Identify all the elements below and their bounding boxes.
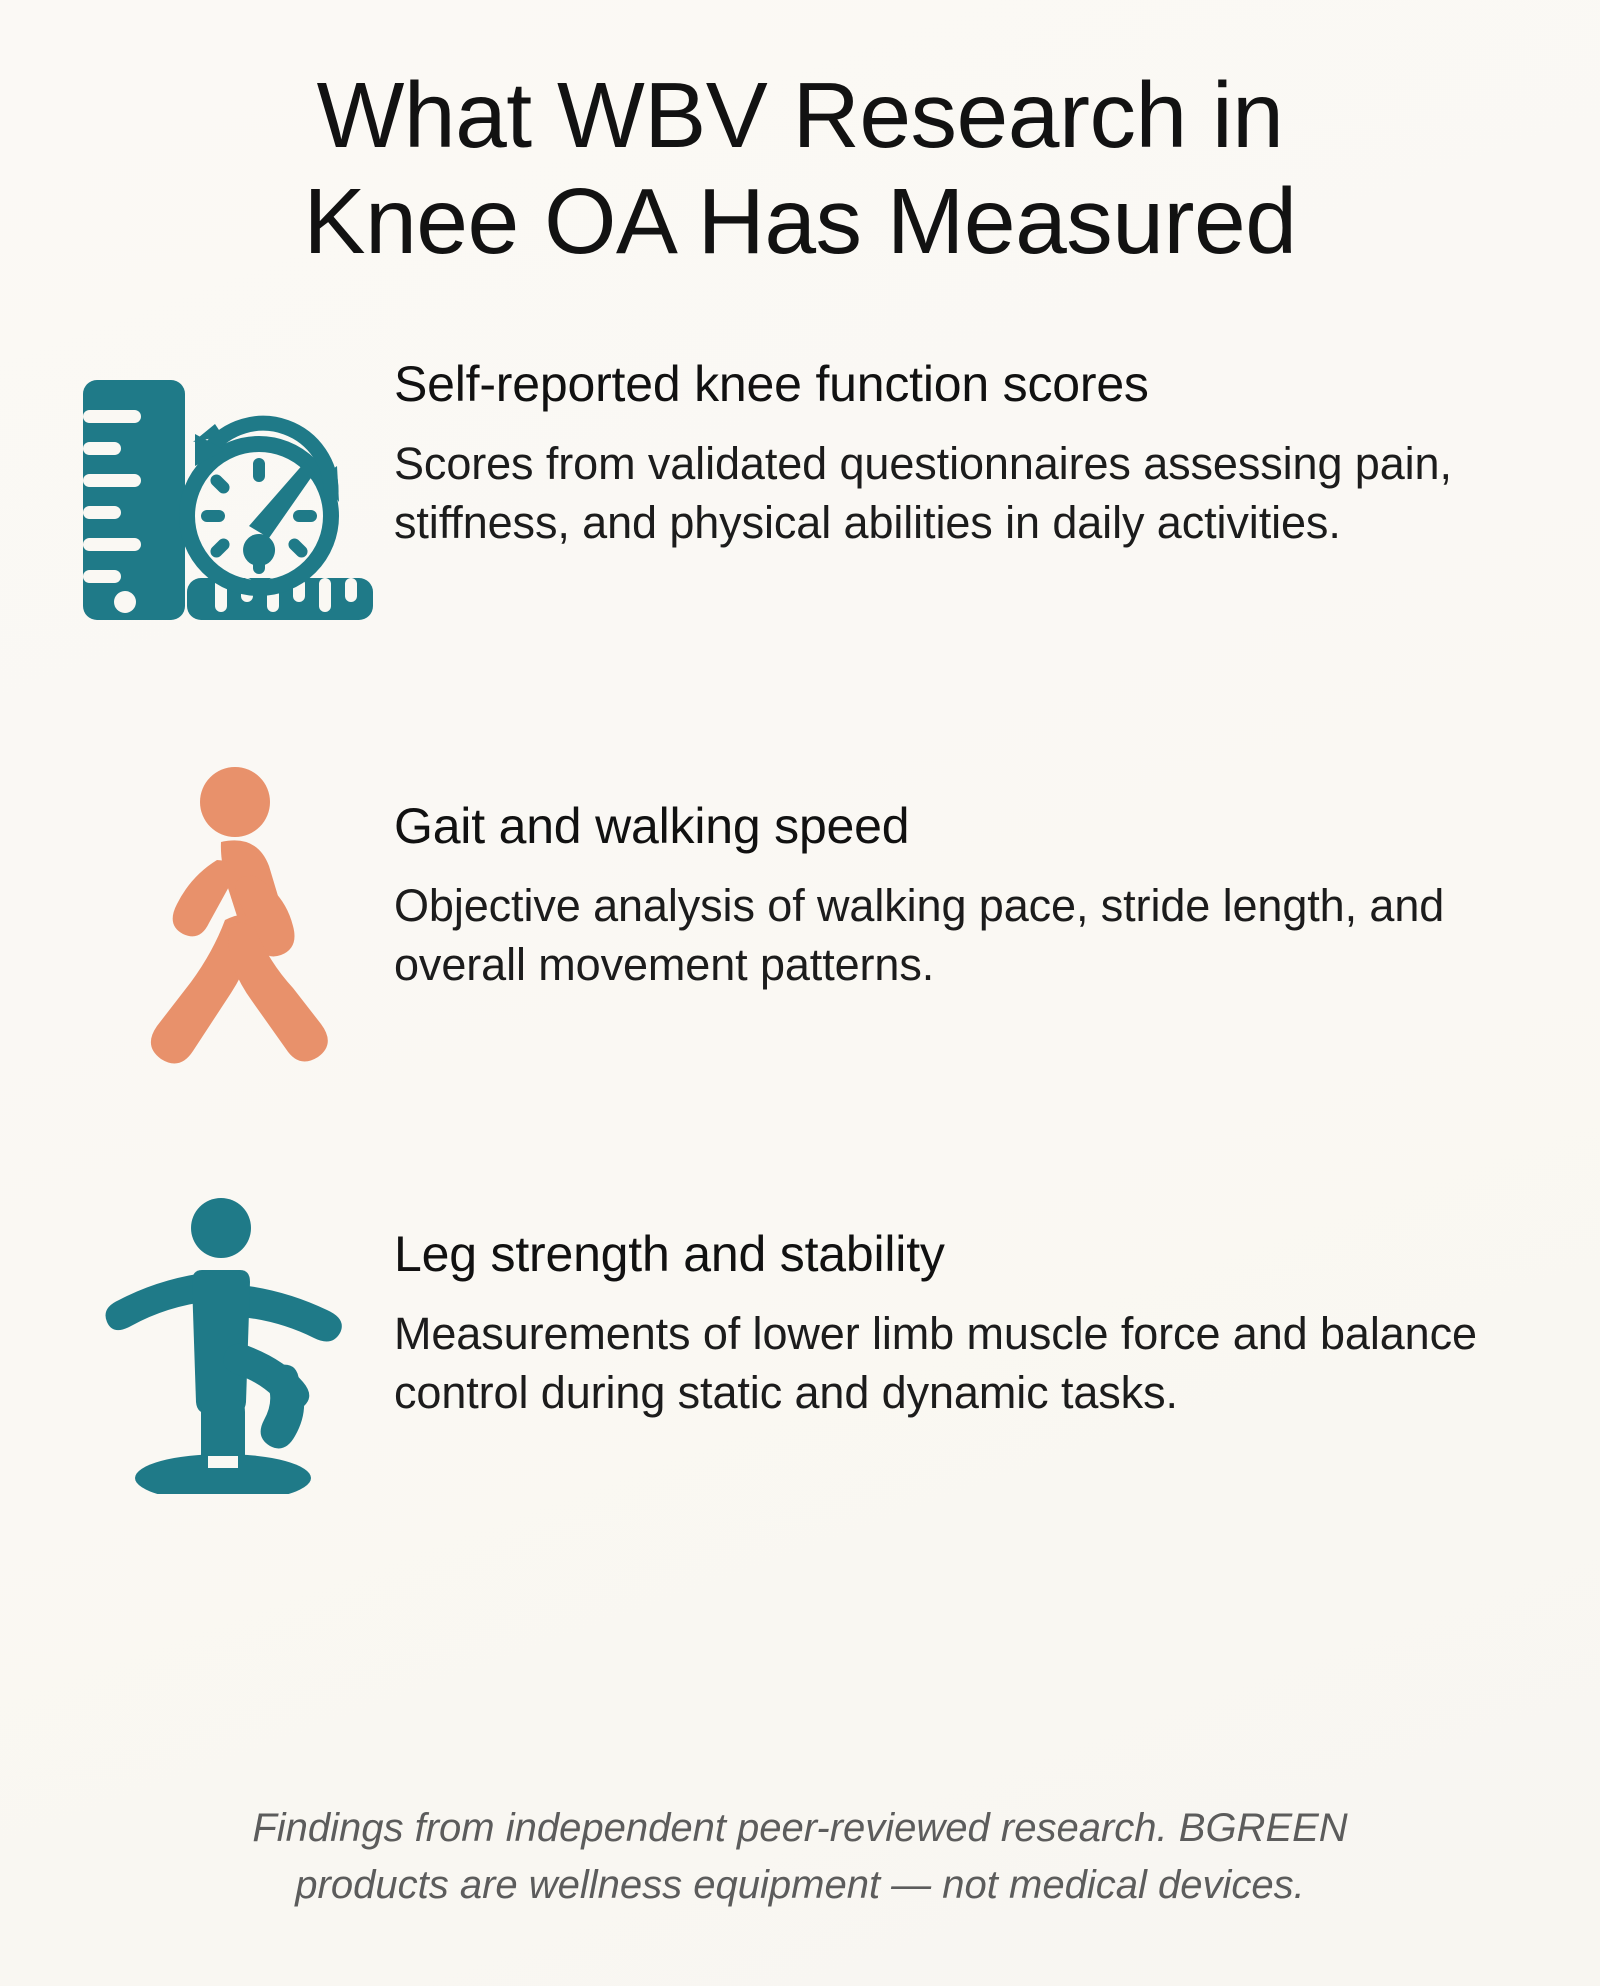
measures-list: Self-reported knee function scores Score… [0, 348, 1600, 1494]
list-item-body: Objective analysis of walking pace, stri… [394, 876, 1490, 995]
list-item-heading: Gait and walking speed [394, 798, 1490, 854]
list-item-body: Scores from validated questionnaires ass… [394, 434, 1490, 553]
list-item-body: Measurements of lower limb muscle force … [394, 1304, 1490, 1423]
page-title-line-1: What WBV Research in [120, 62, 1480, 168]
disclaimer-line-2: products are wellness equipment — not me… [150, 1857, 1450, 1914]
list-item-text: Self-reported knee function scores Score… [378, 356, 1490, 553]
list-item-heading: Leg strength and stability [394, 1226, 1490, 1282]
list-item: Gait and walking speed Objective analysi… [0, 754, 1600, 1064]
disclaimer-line-1: Findings from independent peer-reviewed … [150, 1800, 1450, 1857]
balancing-person-icon [78, 1194, 378, 1494]
list-item: Self-reported knee function scores Score… [0, 348, 1600, 636]
list-item-text: Leg strength and stability Measurements … [378, 1226, 1490, 1423]
page-title: What WBV Research in Knee OA Has Measure… [0, 0, 1600, 274]
walking-person-icon [78, 764, 378, 1064]
infographic-poster: What WBV Research in Knee OA Has Measure… [0, 0, 1600, 1986]
page-title-line-2: Knee OA Has Measured [120, 168, 1480, 274]
list-item: Leg strength and stability Measurements … [0, 1182, 1600, 1494]
ruler-stopwatch-icon [78, 366, 378, 636]
list-item-heading: Self-reported knee function scores [394, 356, 1490, 412]
list-item-text: Gait and walking speed Objective analysi… [378, 798, 1490, 995]
disclaimer-footer: Findings from independent peer-reviewed … [0, 1800, 1600, 1986]
